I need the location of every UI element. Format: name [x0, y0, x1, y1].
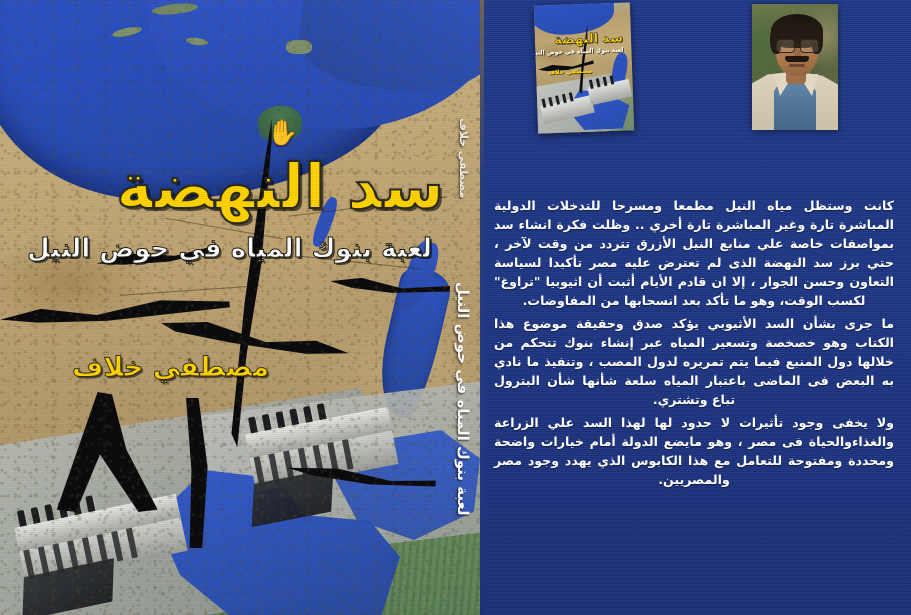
cover-subtitle: لعبة بنوك المياه في حوض النيل — [27, 234, 432, 264]
blurb-paragraph-3: ولا يخفى وجود تأثيرات لا حدود لها لهذا ا… — [494, 413, 894, 489]
front-cover-artwork: ✋ سد النهضة لعبة بنوك المياه في حوض الني… — [0, 0, 480, 615]
open-hand-icon: ✋ — [267, 120, 289, 146]
portrait-mouth — [789, 64, 805, 67]
back-cover-blurb: كانت وستظل مياه النيل مطمعا ومسرحا للتدخ… — [494, 196, 894, 493]
thumbnail-title: سد النهضة — [554, 31, 623, 48]
blurb-paragraph-2: ما جرى بشأن السد الأثيوبي يؤكد صدق وحقيق… — [494, 314, 894, 409]
spine-author-name: مصطفي خلاف — [457, 118, 470, 198]
spine-subtitle: لعبة بنوك المياه في حوض النيل — [454, 282, 472, 516]
eyeglass-lens-right — [800, 39, 819, 53]
blurb-paragraph-1: كانت وستظل مياه النيل مطمعا ومسرحا للتدخ… — [494, 196, 894, 310]
back-cover-panel: سد النهضة لعبة بنوك المياه في حوض النيل … — [480, 0, 911, 615]
page-title: سد النهضة — [116, 150, 444, 223]
book-cover-image: ✋ سد النهضة لعبة بنوك المياه في حوض الني… — [0, 0, 911, 615]
portrait-moustache — [785, 56, 809, 62]
panel-left-edge — [480, 0, 484, 615]
terrain-noise-texture — [0, 0, 480, 615]
eyeglass-lens-left — [776, 39, 795, 53]
author-portrait-photo — [752, 4, 838, 130]
eyeglass-bridge — [793, 44, 800, 46]
cover-author-name: مصطفي خلاف — [72, 352, 269, 383]
thumbnail-book-cover: سد النهضة لعبة بنوك المياه في حوض النيل … — [534, 2, 634, 133]
